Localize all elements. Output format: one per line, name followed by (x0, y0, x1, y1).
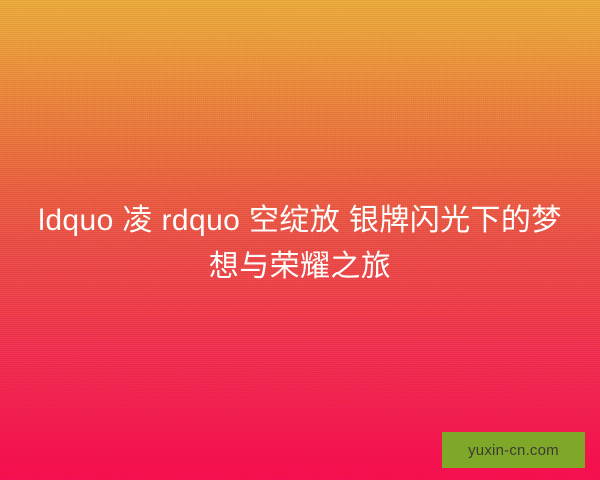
promo-banner: ldquo 凌 rdquo 空绽放 银牌闪光下的梦想与荣耀之旅 yuxin-cn… (0, 0, 600, 480)
banner-headline: ldquo 凌 rdquo 空绽放 银牌闪光下的梦想与荣耀之旅 (0, 198, 600, 290)
watermark-label: yuxin-cn.com (468, 443, 559, 458)
watermark-badge: yuxin-cn.com (442, 432, 585, 468)
